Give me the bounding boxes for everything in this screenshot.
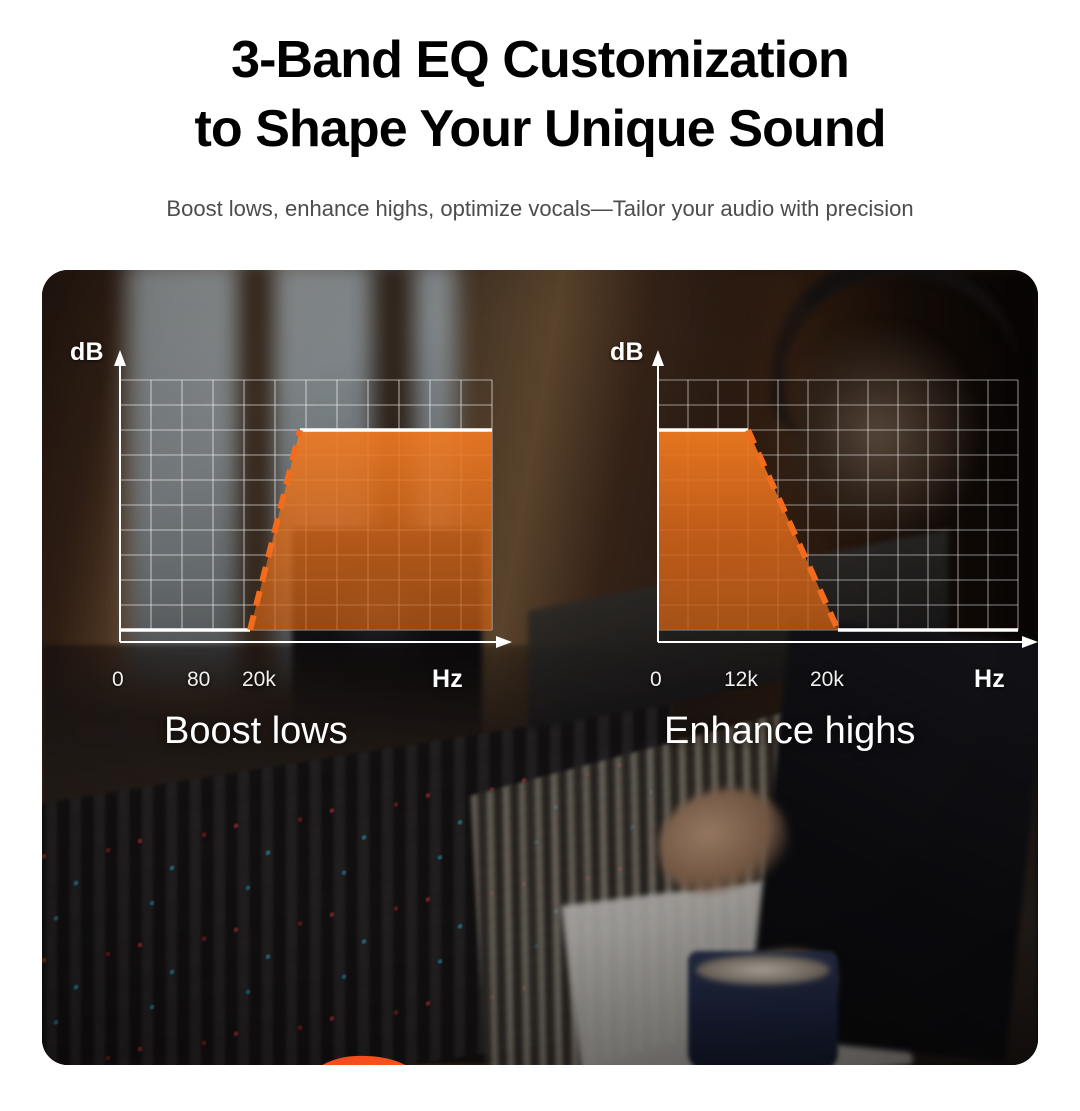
page-subtitle: Boost lows, enhance highs, optimize voca… [0,194,1080,225]
page-title: 3-Band EQ Customization to Shape Your Un… [0,26,1080,163]
page-title-line-1: 3-Band EQ Customization [0,26,1080,95]
enhance-highs-xtick-20k: 20k [810,668,844,692]
page-title-line-2: to Shape Your Unique Sound [0,95,1080,164]
enhance-highs-x-axis-label: Hz [974,665,1005,694]
boost-lows-xtick-80: 80 [187,668,210,692]
page-root: 3-Band EQ Customization to Shape Your Un… [0,0,1080,1111]
boost-lows-fill-region [250,430,492,630]
eq-chart-boost-lows [100,342,520,672]
eq-chart-enhance-highs [640,342,1038,672]
boost-lows-xtick-0: 0 [112,668,124,692]
feature-image-card: dB 0 80 20k Hz Boost lows [42,270,1038,1065]
enhance-highs-xtick-12k: 12k [724,668,758,692]
enhance-highs-xtick-0: 0 [650,668,662,692]
enhance-highs-svg [640,342,1038,672]
boost-lows-xtick-20k: 20k [242,668,276,692]
boost-lows-y-axis-label: dB [70,338,104,367]
boost-lows-x-axis-label: Hz [432,665,463,694]
enhance-highs-caption: Enhance highs [664,710,915,753]
head-profile-shape [284,1056,439,1065]
speaking-head-icon [278,1053,508,1065]
boost-lows-svg [100,342,520,672]
speaking-head-svg [278,1053,508,1065]
enhance-highs-y-axis-label: dB [610,338,644,367]
boost-lows-caption: Boost lows [164,710,348,753]
